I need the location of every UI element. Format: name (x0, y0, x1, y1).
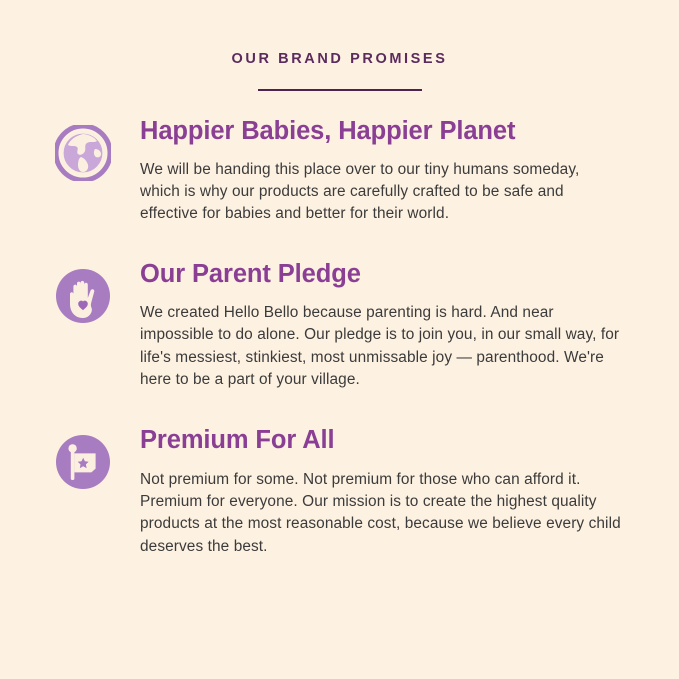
promise-item: Happier Babies, Happier Planet We will b… (0, 117, 679, 226)
promise-item: Premium For All Not premium for some. No… (0, 426, 679, 558)
promise-body: We created Hello Bello because parenting… (140, 302, 621, 391)
promise-body: Not premium for some. Not premium for th… (140, 469, 629, 558)
globe-icon (55, 125, 111, 181)
page-header: OUR BRAND PROMISES (0, 0, 679, 91)
promise-title: Premium For All (140, 426, 629, 455)
flag-star-icon (55, 434, 111, 490)
brand-promises-page: OUR BRAND PROMISES Happier Babies, Happi… (0, 0, 679, 679)
title-divider (258, 89, 422, 91)
promise-title: Our Parent Pledge (140, 260, 621, 289)
promise-body: We will be handing this place over to ou… (140, 159, 617, 226)
promise-item: Our Parent Pledge We created Hello Bello… (0, 260, 679, 392)
promise-list: Happier Babies, Happier Planet We will b… (0, 117, 679, 559)
hand-heart-icon (55, 268, 111, 324)
page-title: OUR BRAND PROMISES (0, 52, 679, 67)
promise-title: Happier Babies, Happier Planet (140, 117, 617, 146)
